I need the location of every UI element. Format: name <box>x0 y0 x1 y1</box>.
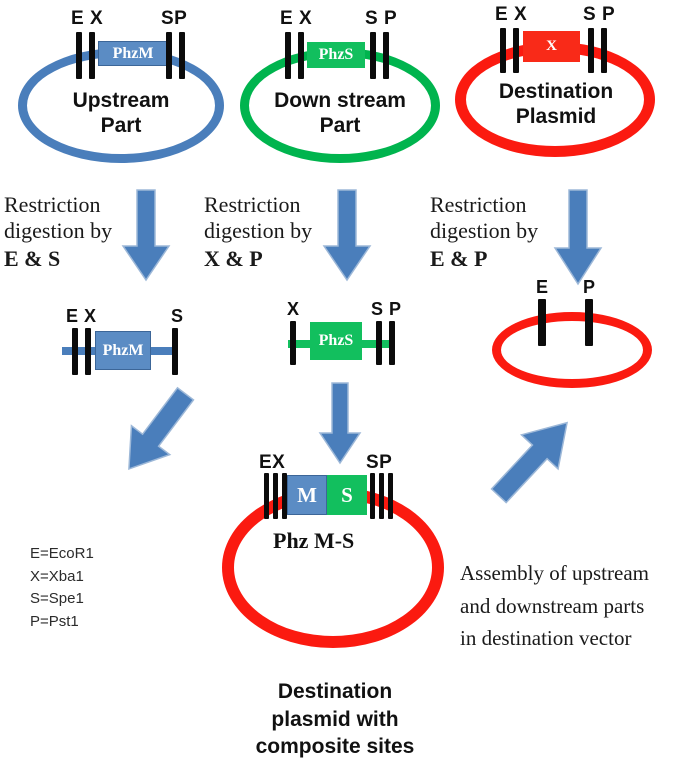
figure-canvas: PhzM E X SP Upstream Part PhzS E X <box>0 0 685 772</box>
composite-left-site-label: EX <box>259 452 285 474</box>
composite-m-label: M <box>297 483 317 508</box>
assembly-note-line1: Assembly of upstream <box>460 557 685 590</box>
upstream-left-site-label: E X <box>71 8 103 30</box>
destination-ligation-arrow <box>470 398 600 516</box>
downstream-title-line2: Part <box>248 114 432 139</box>
phzs-fragment-box: PhzS <box>310 322 362 360</box>
composite-caption-line2: plasmid with <box>235 706 435 734</box>
digestion-arrow-2 <box>320 190 374 282</box>
legend-item-p: P=Pst1 <box>30 611 94 634</box>
upstream-left-site-bars <box>76 32 95 79</box>
phzs-gene-label: PhzS <box>319 46 354 64</box>
destination-left-site-bars <box>500 28 519 73</box>
assembly-note: Assembly of upstream and downstream part… <box>460 557 685 655</box>
digestion-arrow-3 <box>551 190 605 286</box>
destination-title-line2: Plasmid <box>468 105 644 130</box>
phzm-gene-box: PhzM <box>98 41 168 66</box>
upstream-right-site-bars <box>166 32 185 79</box>
phzs-fragment-label: PhzS <box>319 332 354 350</box>
assembly-note-line3: in destination vector <box>460 622 685 655</box>
destination-right-site-label: S P <box>583 4 615 26</box>
composite-plasmid-caption: Destination plasmid with composite sites <box>235 678 435 761</box>
composite-s-box: S <box>327 475 367 515</box>
digestion-arrow-1 <box>119 190 173 282</box>
composite-s-label: S <box>341 483 353 508</box>
downstream-right-site-bars <box>370 32 389 79</box>
phzs-fragment-left-label: X <box>287 299 300 320</box>
cut-destination-left-bar <box>538 299 546 346</box>
cut-destination-right-bar <box>585 299 593 346</box>
phzm-fragment-left-bars <box>72 328 91 375</box>
cut-destination-left-label: E <box>536 277 549 298</box>
assembly-note-line2: and downstream parts <box>460 590 685 623</box>
upstream-title-line1: Upstream <box>43 89 199 114</box>
downstream-plasmid-title: Down stream Part <box>248 89 432 139</box>
downstream-right-site-label: S P <box>365 8 397 30</box>
phzm-ligation-arrow <box>96 378 216 488</box>
phzm-fragment-label: PhzM <box>103 342 144 360</box>
composite-left-site-bars <box>264 473 287 519</box>
destination-stuffer-label: X <box>546 38 557 55</box>
phzm-fragment-left-label: E X <box>66 306 97 327</box>
composite-right-site-label: SP <box>366 452 392 474</box>
composite-caption-line1: Destination <box>235 678 435 706</box>
downstream-left-site-label: E X <box>280 8 312 30</box>
composite-caption-line3: composite sites <box>235 733 435 761</box>
phzs-fragment-right-label: S P <box>371 299 402 320</box>
legend-item-x: X=Xba1 <box>30 566 94 589</box>
phzs-gene-box: PhzS <box>307 42 365 68</box>
cut-destination-ring <box>492 312 652 388</box>
phzm-fragment-box: PhzM <box>95 331 151 370</box>
downstream-title-line1: Down stream <box>248 89 432 114</box>
phzm-gene-label: PhzM <box>113 45 154 63</box>
phzs-fragment-left-bars <box>290 321 296 365</box>
composite-inner-label: Phz M-S <box>273 528 354 554</box>
upstream-plasmid-title: Upstream Part <box>43 89 199 139</box>
upstream-title-line2: Part <box>43 114 199 139</box>
phzs-fragment-right-bars <box>376 321 395 365</box>
destination-plasmid-title: Destination Plasmid <box>468 80 644 130</box>
enzyme-legend: E=EcoR1 X=Xba1 S=Spe1 P=Pst1 <box>30 543 94 633</box>
destination-stuffer-box: X <box>523 31 580 62</box>
destination-left-site-label: E X <box>495 4 527 26</box>
upstream-right-site-label: SP <box>161 8 187 30</box>
legend-item-s: S=Spe1 <box>30 588 94 611</box>
phzs-ligation-arrow <box>318 383 362 465</box>
downstream-left-site-bars <box>285 32 304 79</box>
cut-destination-right-label: P <box>583 277 596 298</box>
phzm-fragment-right-bars <box>172 328 178 375</box>
composite-m-box: M <box>287 475 327 515</box>
destination-right-site-bars <box>588 28 607 73</box>
composite-right-site-bars <box>370 473 393 519</box>
phzm-fragment-right-label: S <box>171 306 184 327</box>
legend-item-e: E=EcoR1 <box>30 543 94 566</box>
destination-title-line1: Destination <box>468 80 644 105</box>
